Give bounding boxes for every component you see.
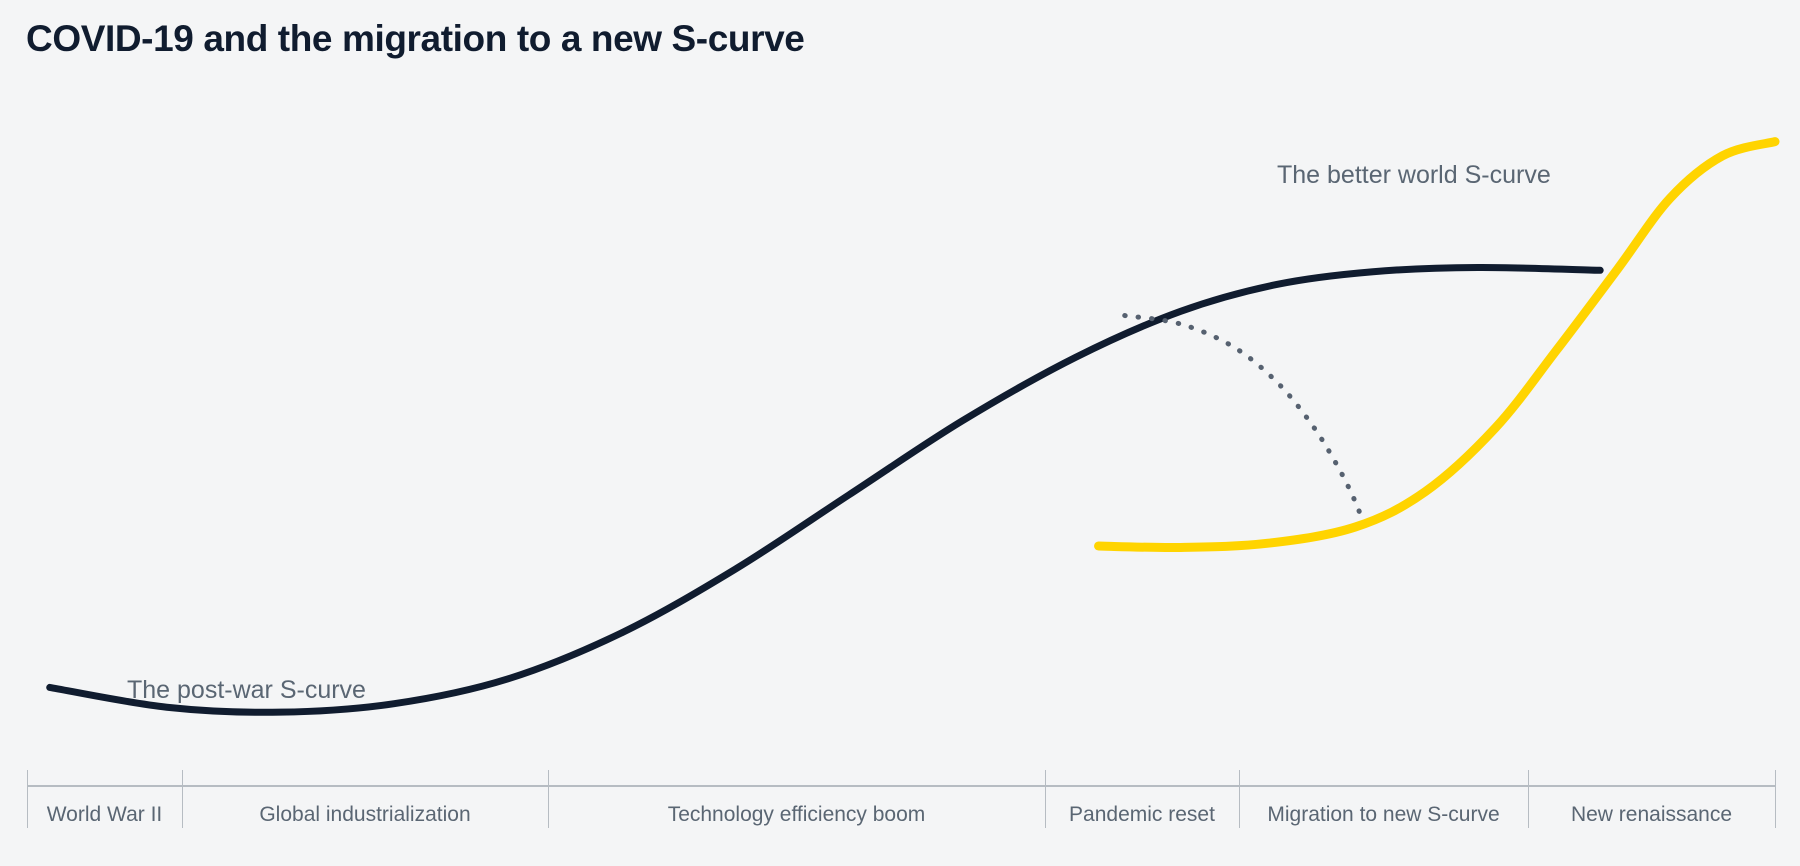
axis-category-3: Pandemic reset [1045,785,1239,845]
axis-category-label: Global industrialization [249,803,480,827]
chart-canvas: COVID-19 and the migration to a new S-cu… [0,0,1800,866]
axis-tick [548,770,549,828]
axis-category-0: World War II [27,785,182,845]
axis-category-band: World War IIGlobal industrializationTech… [27,785,1775,845]
axis-category-2: Technology efficiency boom [548,785,1045,845]
better-world-curve-label: The better world S-curve [1277,161,1551,190]
better-world-s-curve-line [1099,142,1775,548]
post-war-s-curve-line [50,267,1600,712]
axis-category-label: Migration to new S-curve [1257,803,1509,827]
axis-category-label: Technology efficiency boom [658,803,936,827]
axis-tick [1045,770,1046,828]
axis-category-1: Global industrialization [182,785,548,845]
axis-tick [1528,770,1529,828]
axis-category-label: New renaissance [1561,803,1742,827]
axis-tick [27,770,28,828]
axis-tick [1239,770,1240,828]
axis-category-label: World War II [37,803,173,827]
post-war-curve-label: The post-war S-curve [127,676,366,705]
axis-category-5: New renaissance [1528,785,1775,845]
axis-category-4: Migration to new S-curve [1239,785,1528,845]
s-curve-plot [0,0,1800,866]
axis-tick [1775,770,1776,828]
axis-category-label: Pandemic reset [1059,803,1225,827]
pandemic-decline-dotted-line [1125,316,1366,531]
axis-tick [182,770,183,828]
